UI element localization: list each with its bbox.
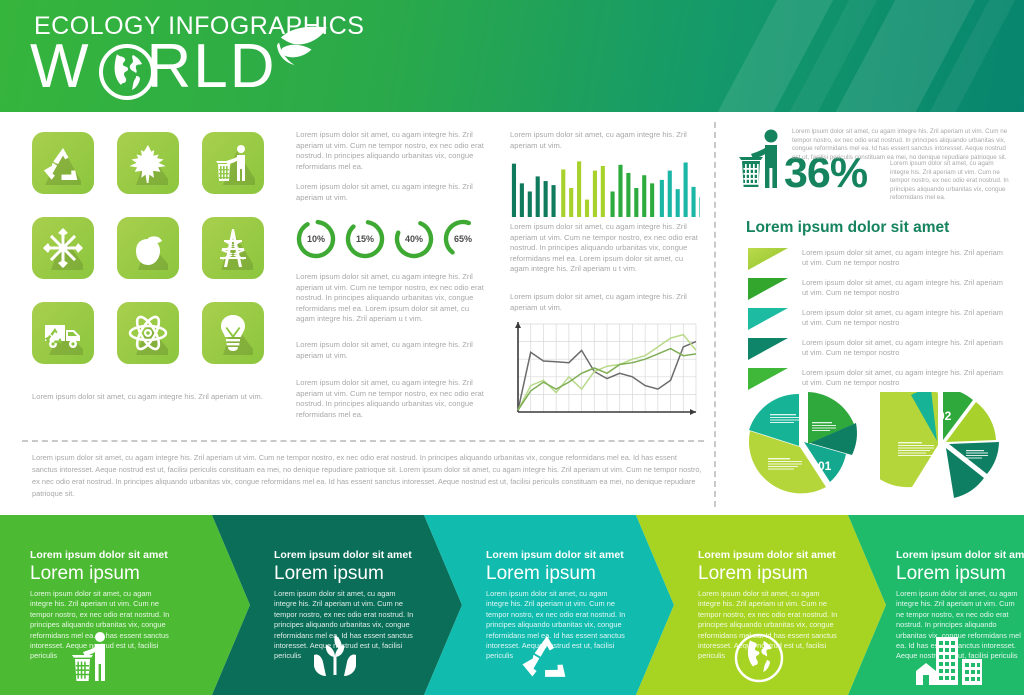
icon-grid-caption: Lorem ipsum dolor sit amet, cu agam inte…	[32, 392, 282, 403]
bar	[634, 188, 638, 217]
arrow-list-item[interactable]: Lorem ipsum dolor sit amet, cu agam inte…	[748, 308, 1010, 338]
panel-4-heading: Lorem ipsum	[698, 563, 808, 585]
panel-2-title: Lorem ipsum dolor sit amet	[274, 549, 444, 561]
pie-chart-01: 01	[742, 392, 878, 504]
panel-5[interactable]: Lorem ipsum dolor sit amet Lorem ipsum L…	[848, 515, 1024, 695]
bar	[650, 183, 654, 217]
panel-3-heading: Lorem ipsum	[486, 563, 596, 585]
tile-power-tower[interactable]	[202, 217, 264, 279]
bar	[611, 191, 615, 217]
gauge-65[interactable]: 65%	[442, 218, 484, 260]
bar	[691, 187, 695, 217]
bar	[520, 183, 524, 217]
arrow-list-item[interactable]: Lorem ipsum dolor sit amet, cu agam inte…	[748, 338, 1010, 368]
tile-recycle[interactable]	[32, 132, 94, 194]
infographic-page: ECOLOGY INFOGRAPHICS WRLD	[0, 0, 1024, 695]
bar	[512, 164, 516, 217]
arrow-list-item[interactable]: Lorem ipsum dolor sit amet, cu agam inte…	[748, 248, 1010, 278]
recycle-icon	[520, 631, 574, 685]
arrow-list-item-text: Lorem ipsum dolor sit amet, cu agam inte…	[802, 278, 1010, 298]
panel-1-heading: Lorem ipsum	[30, 563, 140, 585]
arrow-list-item-text: Lorem ipsum dolor sit amet, cu agam inte…	[802, 308, 1010, 328]
gauge-65-label: 65%	[442, 218, 484, 260]
bar	[626, 173, 630, 217]
gauge-40[interactable]: 40%	[393, 218, 435, 260]
triangle-bullet-icon	[748, 338, 788, 360]
buildings-icon	[910, 631, 988, 685]
bar	[660, 180, 664, 217]
tile-apple[interactable]	[117, 217, 179, 279]
tile-atom[interactable]	[117, 302, 179, 364]
title-letters-rld: RLD	[147, 32, 277, 101]
arrow-list-item-text: Lorem ipsum dolor sit amet, cu agam inte…	[802, 338, 1010, 358]
tile-maple-leaf[interactable]	[117, 132, 179, 194]
column-a-paragraph-5: Lorem ipsum dolor sit amet, cu agam inte…	[296, 378, 488, 420]
footer-paragraph: Lorem ipsum dolor sit amet, cu agam inte…	[32, 452, 704, 500]
bar	[642, 175, 646, 217]
panel-3-title: Lorem ipsum dolor sit amet	[486, 549, 656, 561]
vertical-divider	[714, 122, 716, 507]
pie-02-label: 02	[938, 409, 952, 423]
panel-4-title: Lorem ipsum dolor sit amet	[698, 549, 868, 561]
arrow-list-item-text: Lorem ipsum dolor sit amet, cu agam inte…	[802, 248, 1010, 268]
panel-1-title: Lorem ipsum dolor sit amet	[30, 549, 200, 561]
column-b-paragraph-3: Lorem ipsum dolor sit amet, cu agam inte…	[510, 292, 698, 313]
tile-throw-trash[interactable]	[202, 132, 264, 194]
bar	[544, 181, 548, 217]
title-letter-w: W	[30, 32, 91, 101]
bar	[577, 161, 581, 217]
bar	[601, 166, 605, 217]
highlight-text-2: Lorem ipsum dolor sit amet, cu agam inte…	[890, 160, 1014, 203]
globe-icon	[732, 631, 786, 685]
bar	[699, 197, 700, 217]
throw-trash-icon	[738, 128, 790, 192]
gauge-40-label: 40%	[393, 218, 435, 260]
globe-icon	[99, 44, 155, 100]
tile-recycle-truck[interactable]	[32, 302, 94, 364]
triangle-bullet-icon	[748, 308, 788, 330]
gauge-10-label: 10%	[295, 218, 337, 260]
horizontal-divider	[22, 440, 704, 442]
column-b-paragraph-2: Lorem ipsum dolor sit amet, cu agam inte…	[510, 222, 698, 275]
bar-chart	[510, 158, 700, 218]
bar	[551, 185, 555, 217]
tile-lightbulb[interactable]	[202, 302, 264, 364]
leaf-icon	[277, 24, 329, 70]
bar	[684, 162, 688, 217]
panel-2-heading: Lorem ipsum	[274, 563, 384, 585]
gauge-10[interactable]: 10%	[295, 218, 337, 260]
throw-trash-icon	[66, 631, 120, 685]
highlight-text-1: Lorem ipsum dolor sit amet, cu agam inte…	[792, 128, 1014, 162]
arrow-list-item-text: Lorem ipsum dolor sit amet, cu agam inte…	[802, 368, 1010, 388]
pie-chart-02: 02	[880, 392, 1016, 504]
arrow-list-item[interactable]: Lorem ipsum dolor sit amet, cu agam inte…	[748, 278, 1010, 308]
panel-5-heading: Lorem ipsum	[896, 563, 1006, 585]
bar	[561, 169, 565, 217]
arrow-list-title: Lorem ipsum dolor sit amet	[746, 219, 949, 237]
column-a-paragraph-4: Lorem ipsum dolor sit amet, cu agam inte…	[296, 340, 488, 361]
gauge-15-label: 15%	[344, 218, 386, 260]
column-a-paragraph-1: Lorem ipsum dolor sit amet, cu agam inte…	[296, 130, 488, 172]
triangle-bullet-icon	[748, 368, 788, 390]
pie-01-label: 01	[818, 459, 832, 473]
bar	[569, 188, 573, 217]
bottom-panels: Lorem ipsum dolor sit amet Lorem ipsum L…	[0, 515, 1024, 695]
bar	[618, 165, 622, 217]
gauge-15[interactable]: 15%	[344, 218, 386, 260]
bar	[528, 191, 532, 217]
bar	[668, 171, 672, 217]
hands-plant-icon	[308, 631, 362, 685]
tile-snowflake[interactable]	[32, 217, 94, 279]
bar	[676, 189, 680, 217]
panel-5-title: Lorem ipsum dolor sit amet	[896, 549, 1024, 561]
line-chart	[510, 318, 700, 420]
bar	[536, 176, 540, 217]
column-a-paragraph-3: Lorem ipsum dolor sit amet, cu agam inte…	[296, 272, 488, 325]
column-a-paragraph-2: Lorem ipsum dolor sit amet, cu agam inte…	[296, 182, 488, 203]
column-b-paragraph-1: Lorem ipsum dolor sit amet, cu agam inte…	[510, 130, 698, 151]
triangle-bullet-icon	[748, 278, 788, 300]
triangle-bullet-icon	[748, 248, 788, 270]
bar	[593, 171, 597, 217]
bar	[585, 200, 589, 217]
header-banner: ECOLOGY INFOGRAPHICS WRLD	[0, 0, 1024, 112]
